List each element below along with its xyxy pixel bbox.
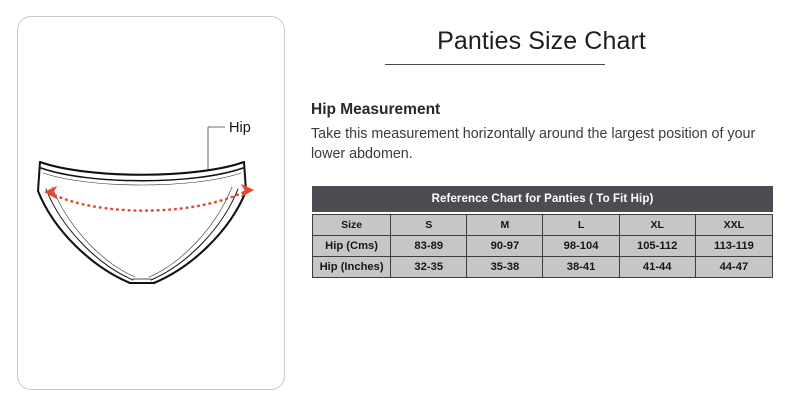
table-banner: Reference Chart for Panties ( To Fit Hip…	[312, 186, 773, 212]
cell-hip-cms-m: 90-97	[467, 236, 543, 257]
size-table: Size S M L XL XXL Hip (Cms) 83-89 90-97 …	[312, 214, 773, 278]
cell-hip-inches-l: 38-41	[543, 257, 619, 278]
cell-hip-inches-xl: 41-44	[619, 257, 695, 278]
illustration-panel: Hip	[17, 16, 285, 390]
column-header-m: M	[467, 215, 543, 236]
panty-illustration: Hip	[18, 17, 286, 391]
table-row: Hip (Cms) 83-89 90-97 98-104 105-112 113…	[313, 236, 773, 257]
cell-hip-inches-xxl: 44-47	[695, 257, 772, 278]
cell-hip-cms-xxl: 113-119	[695, 236, 772, 257]
column-header-xl: XL	[619, 215, 695, 236]
size-chart: Reference Chart for Panties ( To Fit Hip…	[312, 186, 773, 278]
cell-hip-inches-m: 35-38	[467, 257, 543, 278]
section-heading: Hip Measurement	[311, 101, 440, 119]
cell-hip-cms-s: 83-89	[391, 236, 467, 257]
row-label-hip-inches: Hip (Inches)	[313, 257, 391, 278]
content-column: Panties Size Chart Hip Measurement Take …	[311, 0, 781, 402]
panty-outline	[38, 162, 249, 285]
column-header-size: Size	[313, 215, 391, 236]
hip-label: Hip	[229, 120, 251, 136]
title-underline	[385, 64, 605, 65]
column-header-s: S	[391, 215, 467, 236]
cell-hip-cms-xl: 105-112	[619, 236, 695, 257]
column-header-xxl: XXL	[695, 215, 772, 236]
cell-hip-cms-l: 98-104	[543, 236, 619, 257]
page-title: Panties Size Chart	[311, 27, 772, 56]
table-header-row: Size S M L XL XXL	[313, 215, 773, 236]
table-row: Hip (Inches) 32-35 35-38 38-41 41-44 44-…	[313, 257, 773, 278]
cell-hip-inches-s: 32-35	[391, 257, 467, 278]
column-header-l: L	[543, 215, 619, 236]
row-label-hip-cms: Hip (Cms)	[313, 236, 391, 257]
section-body-text: Take this measurement horizontally aroun…	[311, 124, 777, 164]
